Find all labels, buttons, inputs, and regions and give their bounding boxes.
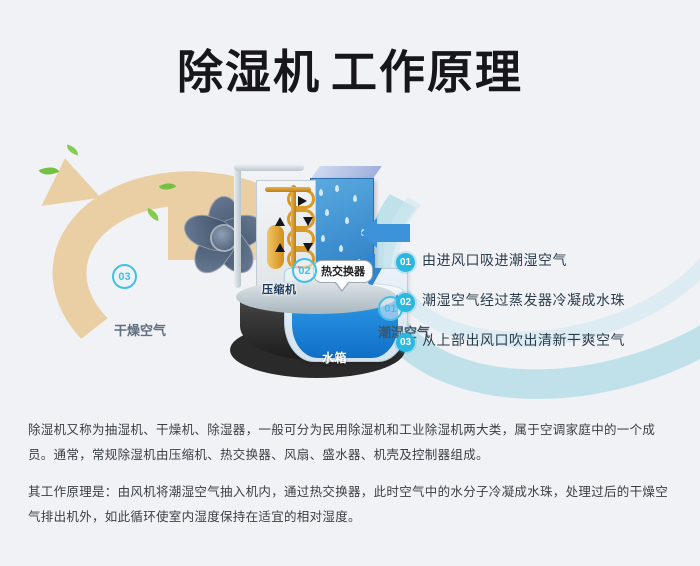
label-dry-air: 干燥空气 — [114, 320, 166, 339]
legend-badge-01: 01 — [396, 253, 415, 272]
callout-heat-exchanger: 热交换器 — [313, 260, 373, 283]
diagram-ring-badge-03: 03 — [112, 264, 137, 289]
refrigerant-pipe-top — [234, 164, 304, 171]
legend-text-02: 潮湿空气经过蒸发器冷凝成水珠 — [422, 292, 625, 310]
refrigerant-pipe — [234, 168, 241, 288]
label-water-tank: 水箱 — [322, 349, 347, 366]
legend-item-03[interactable]: 03 从上部出风口吹出清新干爽空气 — [396, 332, 686, 352]
label-compressor: 压缩机 — [262, 281, 297, 297]
title-part-1: 除湿机 — [177, 46, 321, 98]
legend-item-01[interactable]: 01 由进风口吸进潮湿空气 — [396, 252, 686, 272]
legend-text-01: 由进风口吸进潮湿空气 — [422, 252, 567, 270]
legend-badge-03: 03 — [396, 333, 415, 352]
legend-list: 01 由进风口吸进潮湿空气 02 潮湿空气经过蒸发器冷凝成水珠 03 从上部出风… — [396, 252, 686, 372]
diagram-ring-badge-02: 02 — [292, 258, 317, 283]
infographic-canvas: 除湿机工作原理 — [0, 0, 700, 566]
description-paragraph-1: 除湿机又称为抽湿机、干燥机、除湿器，一般可分为民用除湿机和工业除湿机两大类，属于… — [28, 418, 676, 468]
legend-item-02[interactable]: 02 潮湿空气经过蒸发器冷凝成水珠 — [396, 292, 686, 312]
intake-arrow-icon — [376, 224, 410, 242]
leaf-icon — [65, 144, 80, 155]
legend-badge-02: 02 — [396, 293, 415, 312]
fan-hub — [212, 226, 236, 250]
title-part-2: 工作原理 — [331, 46, 523, 98]
unit-base-plate — [236, 280, 396, 314]
dry-air-arrow-head — [35, 154, 101, 206]
legend-text-03: 从上部出风口吹出清新干爽空气 — [422, 332, 625, 350]
description-paragraph-2: 其工作原理是：由风机将潮湿空气抽入机内，通过热交换器，此时空气中的水分子冷凝成水… — [28, 480, 676, 530]
flow-arrow-icon — [298, 196, 307, 206]
description-block: 除湿机又称为抽湿机、干燥机、除湿器，一般可分为民用除湿机和工业除湿机两大类，属于… — [28, 418, 676, 542]
